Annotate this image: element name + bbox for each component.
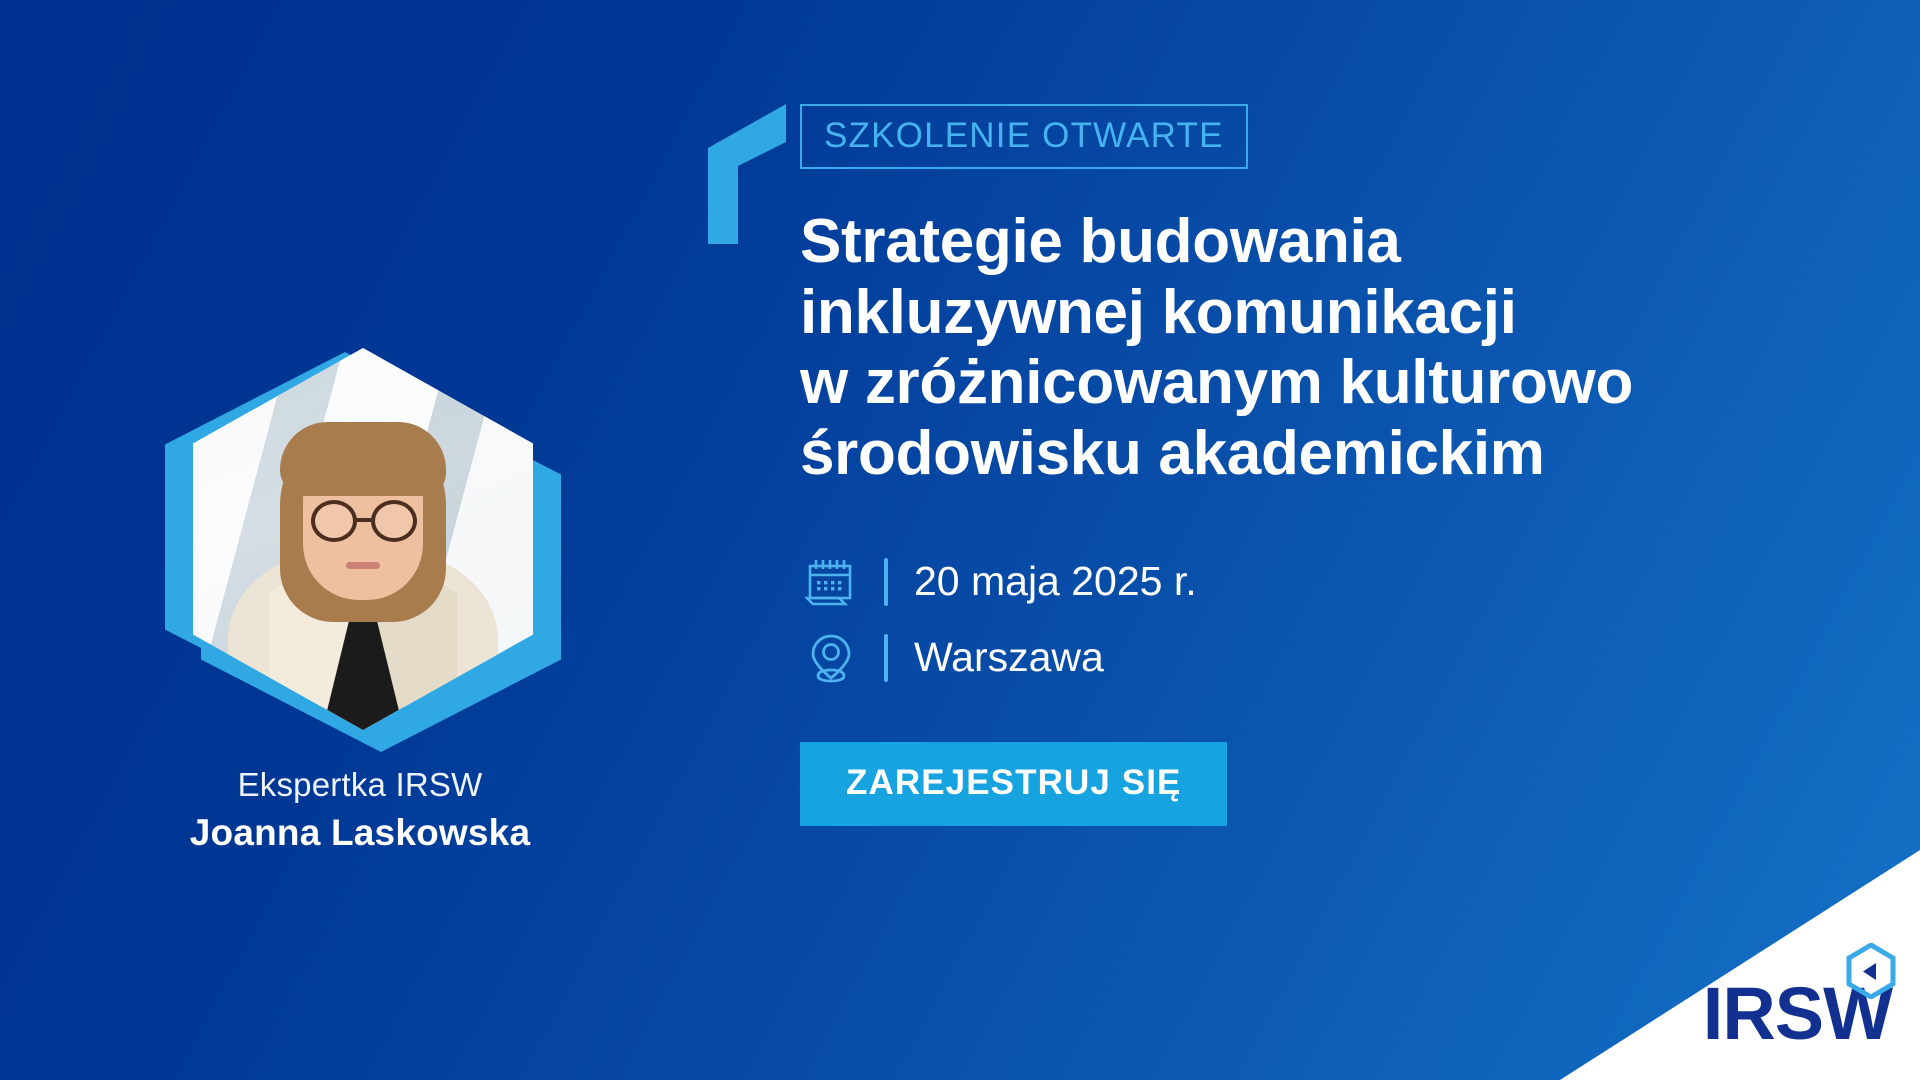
- register-button-label: ZAREJESTRUJ SIĘ: [846, 763, 1181, 802]
- speaker-photo-frame: [165, 340, 555, 740]
- title-line-3: w zróżnicowanym kulturowo: [800, 348, 1792, 419]
- speaker-block: Ekspertka IRSW Joanna Laskowska: [150, 340, 570, 854]
- event-type-badge: SZKOLENIE OTWARTE: [800, 104, 1248, 169]
- divider: [884, 558, 888, 606]
- portrait-mouth: [346, 562, 380, 569]
- irsw-logo: IRSW: [1703, 983, 1892, 1046]
- title-line-2: inkluzywnej komunikacji: [800, 278, 1792, 349]
- content-column: SZKOLENIE OTWARTE Strategie budowania in…: [792, 104, 1792, 826]
- divider: [884, 634, 888, 682]
- portrait-glasses-right: [371, 500, 417, 542]
- calendar-icon: [800, 556, 862, 608]
- portrait-glasses-bridge: [355, 518, 371, 522]
- page-title: Strategie budowania inkluzywnej komunika…: [800, 207, 1792, 490]
- event-date-row: 20 maja 2025 r.: [800, 544, 1792, 620]
- speaker-role: Ekspertka IRSW: [238, 766, 483, 804]
- map-pin-icon: [800, 632, 862, 684]
- event-location: Warszawa: [914, 634, 1104, 681]
- title-line-1: Strategie budowania: [800, 207, 1792, 278]
- event-banner: IRSW Ek: [0, 0, 1920, 1080]
- hexagon-corner-bracket-icon: [708, 104, 818, 244]
- event-type-label: SZKOLENIE OTWARTE: [824, 116, 1224, 155]
- portrait-fringe: [280, 422, 446, 496]
- hexagon-play-icon: [1846, 943, 1896, 999]
- portrait-glasses-left: [311, 500, 357, 542]
- title-line-4: środowisku akademickim: [800, 419, 1792, 490]
- event-date: 20 maja 2025 r.: [914, 558, 1197, 605]
- event-details: 20 maja 2025 r. Warszawa: [800, 544, 1792, 696]
- speaker-name: Joanna Laskowska: [190, 812, 530, 854]
- register-button[interactable]: ZAREJESTRUJ SIĘ: [800, 742, 1227, 826]
- event-location-row: Warszawa: [800, 620, 1792, 696]
